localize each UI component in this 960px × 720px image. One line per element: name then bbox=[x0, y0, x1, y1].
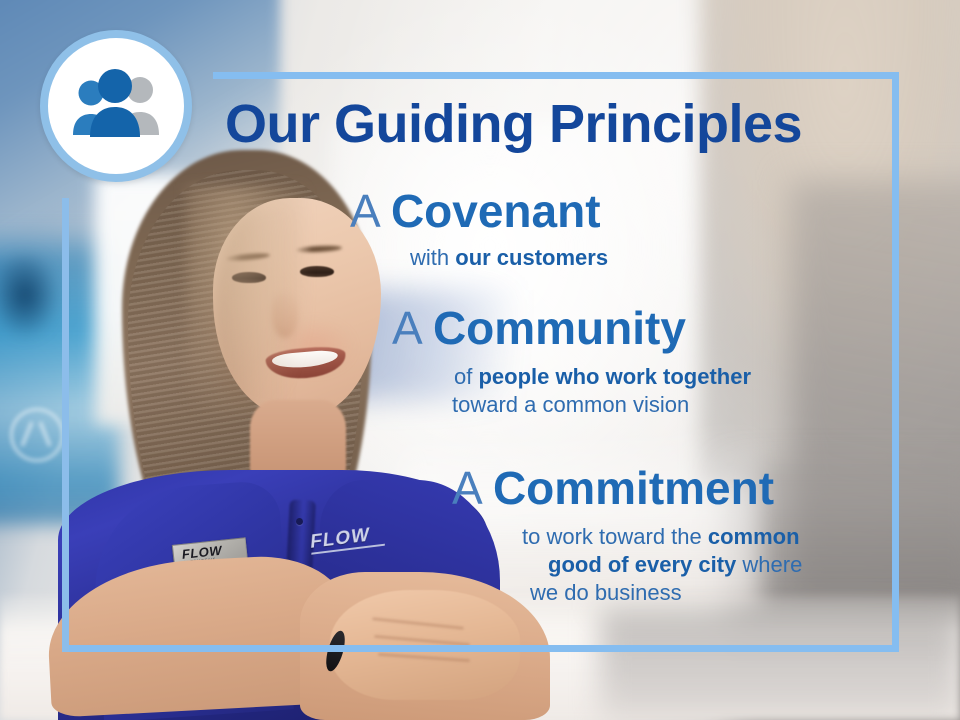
people-group-icon bbox=[64, 69, 168, 143]
principle-community: A Community of people who work together … bbox=[392, 305, 751, 419]
principle-covenant-article: A bbox=[350, 185, 378, 237]
table-surface-far bbox=[600, 610, 960, 720]
sub-text-regular: with bbox=[410, 245, 455, 270]
sub-line: to work toward the common bbox=[522, 523, 802, 551]
principle-covenant-word: Covenant bbox=[391, 185, 601, 237]
frame-border-top bbox=[213, 72, 899, 79]
sub-line: of people who work together bbox=[454, 363, 751, 391]
principle-community-subtext: of people who work together toward a com… bbox=[454, 363, 751, 419]
sub-text-bold: our customers bbox=[455, 245, 608, 270]
frame-border-bottom bbox=[62, 645, 899, 652]
principle-covenant-subtext: with our customers bbox=[410, 244, 608, 272]
sub-text-bold: good of every city bbox=[548, 552, 736, 577]
principle-covenant-heading: A Covenant bbox=[350, 188, 608, 234]
principle-community-heading: A Community bbox=[392, 305, 751, 351]
sub-text-regular: of bbox=[454, 364, 478, 389]
people-group-icon-badge bbox=[40, 30, 192, 182]
frame-border-right bbox=[892, 72, 899, 652]
sub-line: with our customers bbox=[410, 244, 608, 272]
principle-commitment-article: A bbox=[452, 462, 480, 514]
hair-highlight bbox=[186, 186, 306, 416]
sub-text-bold: people who work together bbox=[478, 364, 751, 389]
sub-text-regular: we do business bbox=[530, 580, 682, 605]
sub-text-bold: common bbox=[708, 524, 800, 549]
shirt-button bbox=[296, 518, 303, 525]
sub-text-regular: to work toward the bbox=[522, 524, 708, 549]
banner-image: FLOW FLOW AUTOMOTIVE bbox=[0, 0, 960, 720]
sub-line: good of every city where bbox=[548, 551, 802, 579]
principle-commitment: A Commitment to work toward the common g… bbox=[452, 465, 802, 607]
principle-commitment-heading: A Commitment bbox=[452, 465, 802, 511]
sub-line: we do business bbox=[530, 579, 802, 607]
sub-text-regular: where bbox=[736, 552, 802, 577]
page-title: Our Guiding Principles bbox=[225, 96, 875, 153]
sub-text-regular: toward a common vision bbox=[452, 392, 689, 417]
frame-border-left bbox=[62, 198, 69, 652]
principle-community-word: Community bbox=[433, 302, 686, 354]
principle-commitment-word: Commitment bbox=[493, 462, 774, 514]
principle-community-article: A bbox=[392, 302, 420, 354]
sub-line: toward a common vision bbox=[452, 391, 751, 419]
principle-covenant: A Covenant with our customers bbox=[350, 188, 608, 272]
principle-commitment-subtext: to work toward the common good of every … bbox=[522, 523, 802, 607]
